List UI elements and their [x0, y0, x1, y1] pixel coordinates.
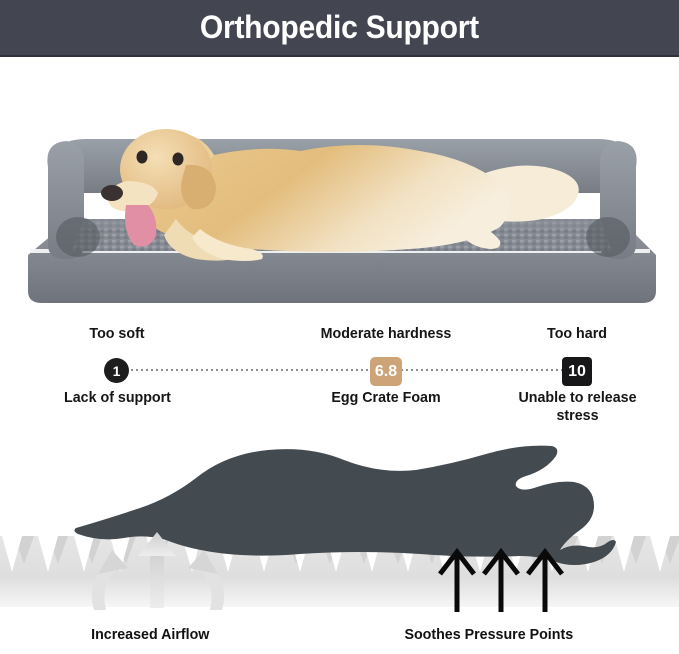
scale-track	[121, 369, 573, 371]
page-title: Orthopedic Support	[200, 9, 479, 46]
product-photo	[0, 59, 679, 317]
scale-marker-1: 1	[104, 358, 129, 383]
scale-label-too-soft: Too soft	[51, 325, 184, 343]
dog-on-bed-illustration	[0, 59, 679, 317]
caption-soothes-pressure-points: Soothes Pressure Points	[404, 626, 573, 643]
diagram-captions: Increased Airflow Soothes Pressure Point…	[0, 626, 679, 654]
scale-caption-lack-of-support: Lack of support	[44, 389, 191, 407]
scale-label-moderate-hardness: Moderate hardness	[310, 325, 462, 343]
pressure-arrows	[440, 552, 562, 612]
caption-increased-airflow: Increased Airflow	[91, 626, 209, 643]
scale-caption-egg-crate-foam: Egg Crate Foam	[310, 389, 462, 407]
scale-label-too-hard: Too hard	[511, 325, 644, 343]
scale-marker-6-8: 6.8	[370, 357, 402, 386]
scale-caption-unable-to-release-stress: Unable to release stress	[513, 389, 641, 425]
foam-diagram	[0, 432, 679, 622]
header-bar: Orthopedic Support	[0, 0, 679, 57]
hardness-scale: Too soft Moderate hardness Too hard 1 6.…	[0, 325, 679, 435]
scale-marker-10: 10	[562, 357, 592, 386]
